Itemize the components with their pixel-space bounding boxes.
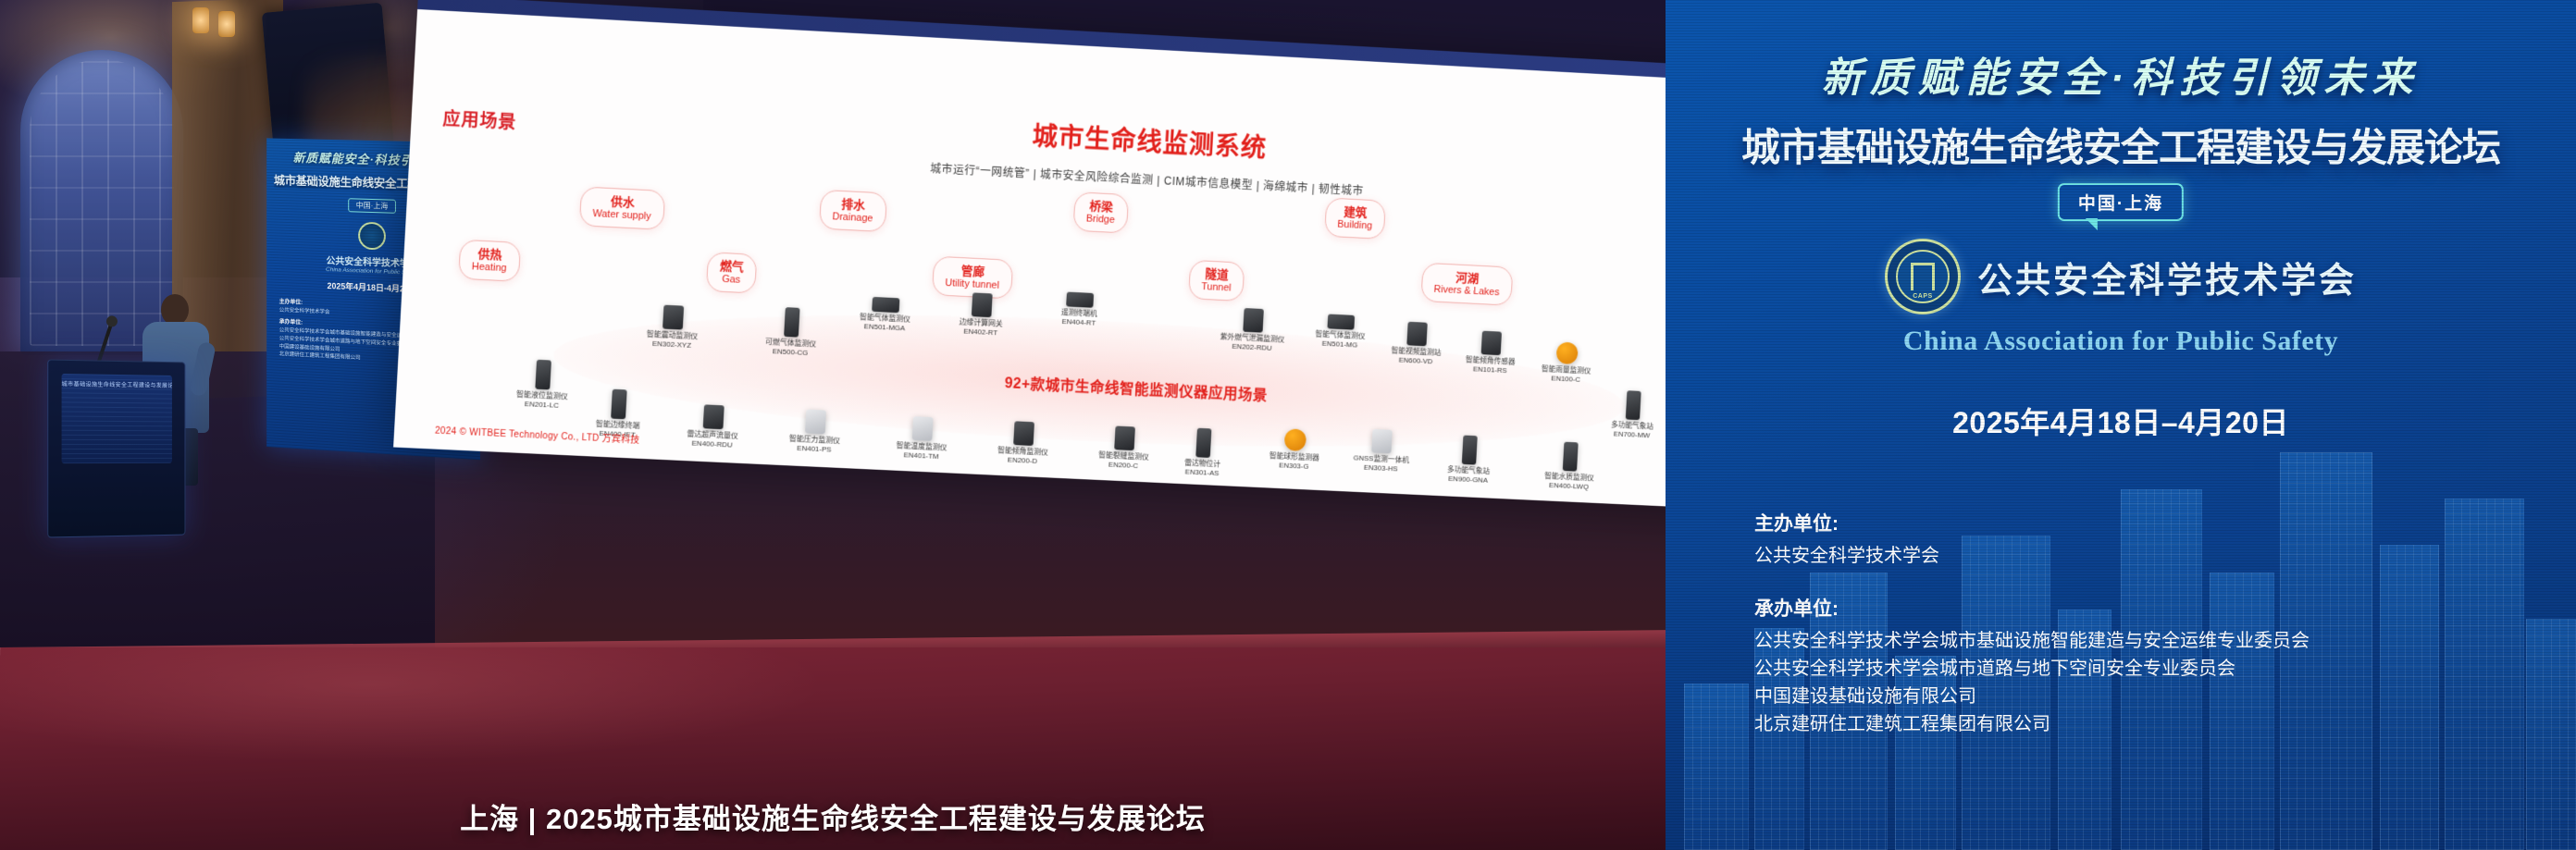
device-icon [1372,429,1393,454]
device-icon [1563,442,1579,472]
device-item: 智能裂缝监测仪EN200-C [1097,425,1150,472]
device-icon [1114,425,1135,450]
organizer-item: 公共安全科学技术学会城市道路与地下空间安全专业委员会 [1754,655,2539,683]
podium-screen: 城市基础设施生命线安全工程建设与发展论坛 [62,374,172,463]
device-item: 智能水质监测仪EN400-LWQ [1543,441,1595,492]
device-icon [703,404,724,429]
device-item: GNSS监测一体机EN303-HS [1353,428,1411,474]
left-board-organizer-item: 中国建设基础设施有限公司 [279,344,341,352]
scenario-label-cn: 建筑 [1338,204,1374,220]
device-model: EN301-AS [1183,467,1220,478]
device-icon [1406,322,1428,347]
scenario-label-en: Gas [719,273,743,286]
scenario-bubble: 燃气Gas [706,252,758,293]
device-model: EN700-MW [1610,429,1653,440]
association-row: CAPS 公共安全科学技术学会 [1666,239,2576,314]
device-icon [972,292,993,317]
left-board-organizer-item: 北京建研住工建筑工程集团有限公司 [279,351,361,361]
device-item: 多功能气象站EN900-GNA [1446,435,1492,486]
location-badge: 中国·上海 [2058,183,2184,221]
scenario-label-en: Building [1337,218,1372,232]
device-model: EN900-GNA [1446,474,1490,486]
device-item: 可燃气体监测仪EN500-CG [764,306,818,358]
main-led-backdrop: 新质赋能安全·科技引领未来 城市基础设施生命线安全工程建设与发展论坛 中国·上海… [1666,0,2576,850]
device-icon [1013,421,1034,446]
truss-light [218,11,235,37]
device-icon [1481,331,1502,355]
podium-screen-label: 城市基础设施生命线安全工程建设与发展论坛 [62,379,172,389]
device-icon [912,416,934,441]
truss-light [192,7,209,33]
scenario-label-en: Drainage [832,211,873,225]
scenario-label-en: Water supply [592,208,651,223]
device-item: 雷达超声流量仪EN400-RDU [687,404,740,450]
organizers-block: 主办单位: 公共安全科学技术学会 承办单位: 公共安全科学技术学会城市基础设施智… [1754,509,2539,738]
scenario-bubble: 河湖Rivers & Lakes [1420,263,1513,306]
conference-photo: 城市基础设施生命线安全工程建设与发展论坛 新质赋能安全·科技引领未来 城市基础设… [0,0,2576,850]
skyline-building [1684,684,1749,850]
presenter-head [161,294,189,326]
podium: 城市基础设施生命线安全工程建设与发展论坛 [47,359,185,537]
scenario-bubble: 隧道Tunnel [1188,260,1245,302]
device-item: 边缘计算网关EN402-RT [959,292,1004,339]
device-item: 智能震动监测仪EN302-XYZ [646,304,700,351]
device-item: 智能倾角传感器EN101-RS [1465,330,1517,376]
left-board-host-item: 公共安全科学技术学会 [279,308,330,315]
device-icon [784,307,799,338]
organizer-item: 北京建研住工建筑工程集团有限公司 [1754,710,2539,738]
device-item: 智能雨量监测仪EN100-C [1541,341,1592,386]
device-model: EN404-RT [1060,317,1096,328]
photo-caption: 上海 | 2025城市基础设施生命线安全工程建设与发展论坛 [0,795,1666,837]
caps-logo-icon [358,222,386,251]
device-item: 遥测终端机EN404-RT [1060,291,1098,327]
presentation-slide: WITBEE万宾 应用场景 城市生命线监测系统 城市运行“一网统管” | 城市安… [393,0,1873,515]
caps-logo-icon: CAPS [1885,239,1961,314]
host-heading: 主办单位: [1754,509,2539,536]
device-icon [872,297,899,313]
device-item: 智能气体监测仪EN501-MGA [859,296,911,333]
device-icon [1327,314,1355,330]
device-item: 智能视频监测站EN600-VD [1391,321,1443,367]
backdrop-forum-title: 城市基础设施生命线安全工程建设与发展论坛 [1666,117,2576,173]
caps-abbrev: CAPS [1888,293,1958,300]
association-name-cn: 公共安全科学技术学会 [1977,252,2357,302]
association-name-en: China Association for Public Safety [1666,326,2576,357]
device-icon [1243,308,1264,333]
device-icon [611,389,627,420]
scenario-bubble: 排水Drainage [819,190,887,232]
organizer-heading: 承办单位: [1754,594,2539,622]
device-item: 紫外燃气泄漏监测仪EN202-RDU [1220,307,1286,354]
device-item: 智能倾角监测仪EN200-D [997,421,1049,467]
backdrop-calligraphy: 新质赋能安全·科技引领未来 [1666,44,2576,104]
scenario-label-en: Tunnel [1201,281,1232,295]
device-model: EN400-LWQ [1543,481,1593,492]
device-item: 雷达物位计EN301-AS [1183,427,1222,478]
device-icon [1284,428,1307,451]
left-board-location-badge: 中国·上海 [348,198,396,214]
device-icon [805,410,826,435]
caps-gate-glyph [1911,263,1935,290]
scenario-label-en: Heating [471,261,506,275]
organizer-item: 公共安全科学技术学会城市基础设施智能建造与安全运维专业委员会 [1754,627,2539,655]
scenario-label-en: Utility tunnel [945,277,999,292]
device-model: EN400-RDU [687,438,738,450]
scenario-bubble: 供热Heating [458,240,521,282]
scenario-label-en: Bridge [1085,213,1115,227]
scenario-bubble: 桥梁Bridge [1072,191,1128,233]
device-icon [1195,428,1211,458]
scenario-label-cn: 供热 [472,246,508,262]
device-item: 智能温度监测仪EN401-TM [896,415,948,462]
device-icon [1066,292,1094,308]
device-icon [663,305,684,330]
organizer-item: 中国建设基础设施有限公司 [1754,683,2539,710]
host-item: 公共安全科学技术学会 [1754,542,2539,570]
scenario-label-cn: 隧道 [1202,266,1232,282]
projection-screen: WITBEE万宾 应用场景 城市生命线监测系统 城市运行“一网统管” | 城市安… [393,0,1873,524]
event-date: 2025年4月18日–4月20日 [1666,400,2576,442]
scenario-bubble: 建筑Building [1324,197,1386,239]
device-item: 智能球形监测器EN303-G [1269,428,1320,473]
device-icon [1462,436,1478,465]
scenario-label-cn: 燃气 [720,259,744,275]
scenario-label-en: Rivers & Lakes [1433,284,1500,299]
device-item: 智能气体监测仪EN501-MG [1315,314,1367,351]
scenario-label-cn: 桥梁 [1086,199,1116,215]
scenario-bubble: 供水Water supply [579,186,665,229]
device-item: 智能压力监测仪EN401-PS [788,409,842,455]
device-icon [1556,342,1579,365]
